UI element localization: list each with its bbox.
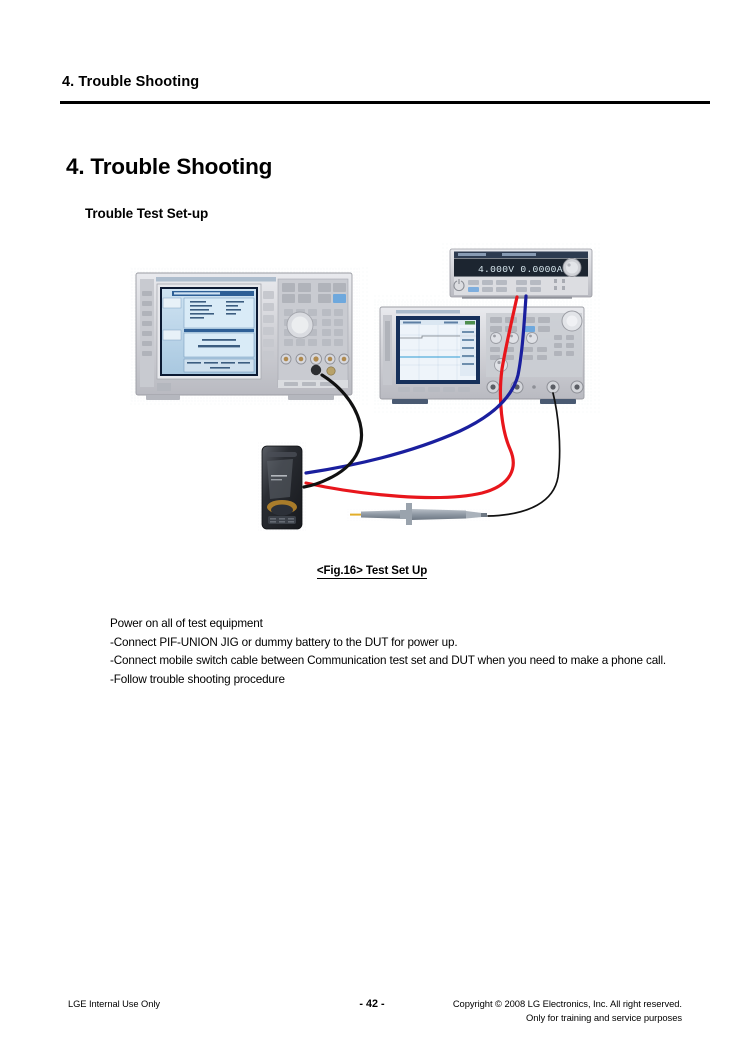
power-supply-display: 4.000V 0.0000A bbox=[478, 264, 563, 275]
footer-copyright-line-2: Only for training and service purposes bbox=[453, 1011, 682, 1025]
instruction-item-1: -Connect PIF-UNION JIG or dummy battery … bbox=[110, 634, 670, 653]
oscilloscope-probe bbox=[346, 503, 491, 525]
footer-copyright-line-1: Copyright © 2008 LG Electronics, Inc. Al… bbox=[453, 997, 682, 1011]
instruction-item-3: -Follow trouble shooting procedure bbox=[110, 671, 670, 690]
oscilloscope bbox=[374, 301, 592, 405]
figure-caption-text: <Fig.16> Test Set Up bbox=[317, 565, 427, 579]
instruction-intro: Power on all of test equipment bbox=[110, 615, 670, 634]
power-supply: 4.000V 0.0000A bbox=[450, 249, 592, 299]
section-title: Trouble Test Set-up bbox=[85, 206, 208, 221]
communication-test-set bbox=[130, 267, 360, 402]
test-setup-figure: 4.000V 0.0000A bbox=[110, 235, 610, 560]
chapter-title: 4. Trouble Shooting bbox=[66, 154, 272, 180]
running-header: 4. Trouble Shooting bbox=[62, 74, 199, 90]
footer-copyright: Copyright © 2008 LG Electronics, Inc. Al… bbox=[453, 997, 682, 1024]
instruction-item-2: -Connect mobile switch cable between Com… bbox=[110, 652, 670, 671]
dut-mobile-phone bbox=[258, 442, 306, 532]
header-divider bbox=[60, 101, 710, 104]
page-canvas: 4. Trouble Shooting 4. Trouble Shooting … bbox=[0, 0, 744, 1053]
instructions-block: Power on all of test equipment -Connect … bbox=[110, 615, 670, 689]
figure-caption: <Fig.16> Test Set Up bbox=[0, 565, 744, 577]
